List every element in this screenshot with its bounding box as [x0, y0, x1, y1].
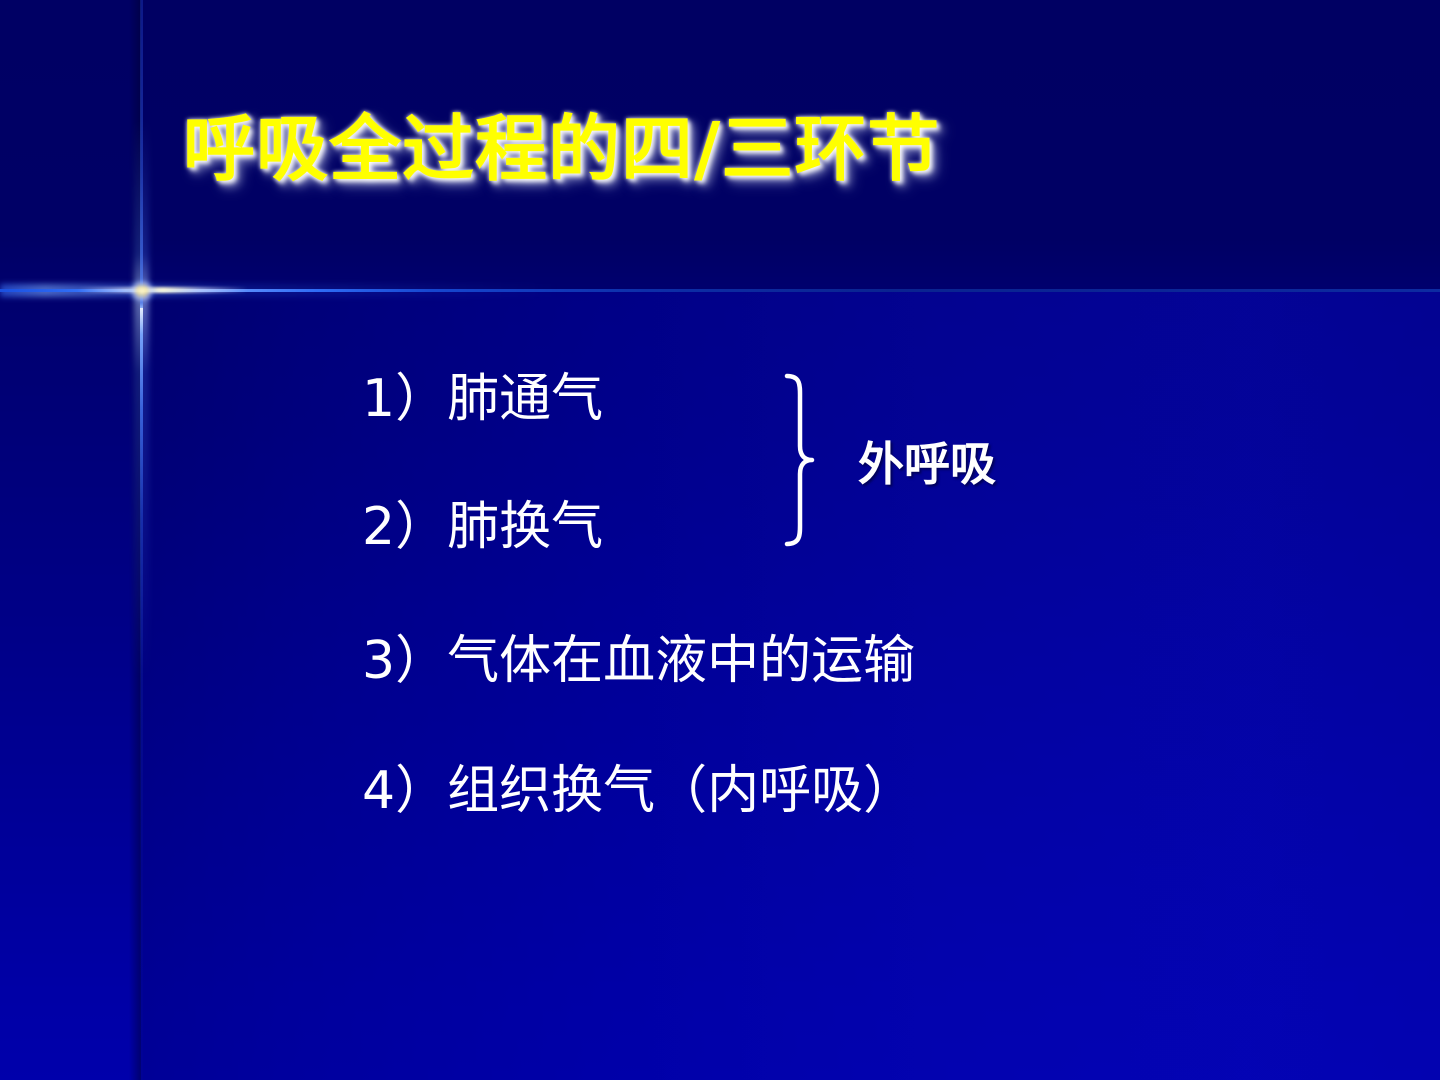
- vertical-rule: [140, 0, 143, 1080]
- rule-intersection-flare-horizontal: [78, 287, 248, 293]
- list-item: 4）组织换气（内呼吸）: [362, 762, 915, 822]
- rule-intersection-flare: [126, 276, 158, 306]
- slide-title: 呼吸全过程的四/三环节: [183, 112, 940, 188]
- brace-label-external-respiration: 外呼吸: [858, 428, 996, 494]
- list-item: 3）气体在血液中的运输: [362, 632, 915, 692]
- right-curly-brace-icon: [775, 372, 823, 548]
- list-item: 2）肺换气: [362, 498, 603, 558]
- slide-left-accent-strip: [0, 0, 141, 1080]
- slide-canvas: 呼吸全过程的四/三环节 1）肺通气 2）肺换气 3）气体在血液中的运输 4）组织…: [0, 0, 1440, 1080]
- list-item: 1）肺通气: [362, 370, 603, 430]
